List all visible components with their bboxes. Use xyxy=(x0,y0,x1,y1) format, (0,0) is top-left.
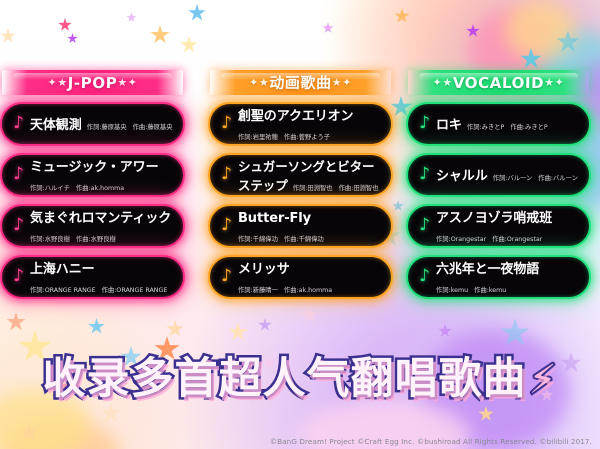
song-credit: 作詞:千綿偉功作曲:千綿偉功 xyxy=(238,236,324,243)
song-composer: 作曲:水野良樹 xyxy=(76,236,116,243)
song-title: Butter-Fly xyxy=(238,211,311,226)
song-texts: 六兆年と一夜物語 作詞:kemu作曲:kemu xyxy=(436,258,589,296)
banner-star-left-icon: ✦★ xyxy=(47,76,68,89)
music-note-icon: ♪ xyxy=(417,115,432,132)
promo-screen: ✦★ J-POP ★✦ ♪ 天体観測 作詞:藤原基央作曲:藤原基央 ♪ ミュージ… xyxy=(0,0,600,449)
song-texts: ロキ 作詞:みきとP作曲:みきとP xyxy=(436,114,589,133)
song-lyricist: 作詞:水野良樹 xyxy=(30,236,70,243)
song-composer: 作曲:ORANGE RANGE xyxy=(102,287,168,294)
banner-star-right-icon: ★✦ xyxy=(117,76,138,89)
column-banner-anime: ✦★ 动画歌曲 ★✦ xyxy=(210,70,391,95)
music-note-icon: ♪ xyxy=(219,268,234,285)
song-composer: 作曲:千綿偉功 xyxy=(284,236,324,243)
song-credit: 作詞:岩里祐穂作曲:菅野よう子 xyxy=(238,134,330,141)
page-headline: 收录多首超人气翻唱歌曲⚡ xyxy=(0,358,600,401)
song-lyricist: 作詞:みきとP xyxy=(467,124,504,131)
song-credit: 作詞:kemu作曲:kemu xyxy=(436,287,506,294)
song-lyricist: 作詞:岩里祐穂 xyxy=(238,134,278,141)
song-texts: メリッサ 作詞:新藤晴一作曲:ak.homma xyxy=(238,258,391,296)
song-item[interactable]: ♪ アスノヨゾラ哨戒班 作詞:Orangestar作曲:Orangestar xyxy=(406,204,591,248)
song-item[interactable]: ♪ メリッサ 作詞:新藤晴一作曲:ak.homma xyxy=(208,255,393,299)
song-composer: 作曲:田淵智也 xyxy=(339,185,379,192)
song-credit: 作詞:藤原基央作曲:藤原基央 xyxy=(87,124,173,131)
song-item[interactable]: ♪ シャルル 作詞:バルーン作曲:バルーン xyxy=(406,153,591,197)
song-texts: アスノヨゾラ哨戒班 作詞:Orangestar作曲:Orangestar xyxy=(436,207,589,245)
song-lyricist: 作詞:千綿偉功 xyxy=(238,236,278,243)
song-item[interactable]: ♪ 創聖のアクエリオン 作詞:岩里祐穂作曲:菅野よう子 xyxy=(208,102,393,146)
song-lyricist: 作詞:田淵智也 xyxy=(293,185,333,192)
music-note-icon: ♪ xyxy=(417,268,432,285)
song-title: 創聖のアクエリオン xyxy=(238,109,353,124)
banner-label: VOCALOID xyxy=(453,74,545,92)
banner-star-right-icon: ★✦ xyxy=(332,76,353,89)
song-composer: 作曲:kemu xyxy=(474,287,506,294)
headline-text: 收录多首超人气翻唱歌曲 xyxy=(42,354,526,404)
column-banner-jpop: ✦★ J-POP ★✦ xyxy=(2,70,183,95)
song-composer: 作曲:菅野よう子 xyxy=(284,134,330,141)
music-note-icon: ♪ xyxy=(219,217,234,234)
song-credit: 作詞:田淵智也作曲:田淵智也 xyxy=(293,185,379,192)
song-item[interactable]: ♪ 六兆年と一夜物語 作詞:kemu作曲:kemu xyxy=(406,255,591,299)
song-texts: シュガーソングとビターステップ 作詞:田淵智也作曲:田淵智也 xyxy=(238,156,391,194)
song-texts: ミュージック・アワー 作詞:ハルイチ作曲:ak.homma xyxy=(30,156,183,194)
song-item[interactable]: ♪ ロキ 作詞:みきとP作曲:みきとP xyxy=(406,102,591,146)
banner-label: 动画歌曲 xyxy=(269,72,332,93)
banner-star-left-icon: ✦★ xyxy=(249,76,270,89)
song-composer: 作曲:Orangestar xyxy=(492,236,542,243)
song-credit: 作詞:みきとP作曲:みきとP xyxy=(467,124,548,131)
song-item[interactable]: ♪ Butter-Fly 作詞:千綿偉功作曲:千綿偉功 xyxy=(208,204,393,248)
song-columns: ✦★ J-POP ★✦ ♪ 天体観測 作詞:藤原基央作曲:藤原基央 ♪ ミュージ… xyxy=(0,70,600,320)
song-item[interactable]: ♪ 天体観測 作詞:藤原基央作曲:藤原基央 xyxy=(0,102,185,146)
music-note-icon: ♪ xyxy=(11,268,26,285)
song-credit: 作詞:水野良樹作曲:水野良樹 xyxy=(30,236,116,243)
song-credit: 作詞:ORANGE RANGE作曲:ORANGE RANGE xyxy=(30,287,167,294)
copyright-notice: ©BanG Dream! Project ©Craft Egg Inc. ©bu… xyxy=(270,437,592,446)
column-jpop: ✦★ J-POP ★✦ ♪ 天体観測 作詞:藤原基央作曲:藤原基央 ♪ ミュージ… xyxy=(0,70,191,306)
lightning-bolt-icon: ⚡ xyxy=(528,357,557,403)
music-note-icon: ♪ xyxy=(219,166,234,183)
banner-label: J-POP xyxy=(68,74,118,92)
banner-star-right-icon: ★✦ xyxy=(544,76,565,89)
song-lyricist: 作詞:藤原基央 xyxy=(87,124,127,131)
music-note-icon: ♪ xyxy=(11,166,26,183)
song-title: メリッサ xyxy=(238,262,290,277)
song-composer: 作曲:みきとP xyxy=(510,124,547,131)
song-item[interactable]: ♪ シュガーソングとビターステップ 作詞:田淵智也作曲:田淵智也 xyxy=(208,153,393,197)
song-title: アスノヨゾラ哨戒班 xyxy=(436,211,552,226)
song-lyricist: 作詞:バルーン xyxy=(493,175,533,182)
song-lyricist: 作詞:Orangestar xyxy=(436,236,486,243)
song-texts: Butter-Fly 作詞:千綿偉功作曲:千綿偉功 xyxy=(238,207,391,245)
song-credit: 作詞:バルーン作曲:バルーン xyxy=(493,175,578,182)
column-vocaloid: ✦★ VOCALOID ★✦ ♪ ロキ 作詞:みきとP作曲:みきとP ♪ シャル… xyxy=(400,70,597,306)
song-title: 上海ハニー xyxy=(30,262,95,277)
banner-star-left-icon: ✦★ xyxy=(432,76,453,89)
song-lyricist: 作詞:kemu xyxy=(436,287,468,294)
song-credit: 作詞:Orangestar作曲:Orangestar xyxy=(436,236,542,243)
song-composer: 作曲:ak.homma xyxy=(284,287,332,294)
song-title: 六兆年と一夜物語 xyxy=(436,262,539,277)
song-texts: 気まぐれロマンティック 作詞:水野良樹作曲:水野良樹 xyxy=(30,207,183,245)
song-texts: 創聖のアクエリオン 作詞:岩里祐穂作曲:菅野よう子 xyxy=(238,105,391,143)
song-texts: 天体観測 作詞:藤原基央作曲:藤原基央 xyxy=(30,114,183,133)
song-title: ミュージック・アワー xyxy=(30,160,158,175)
song-lyricist: 作詞:新藤晴一 xyxy=(238,287,278,294)
background-blob xyxy=(505,0,575,60)
song-item[interactable]: ♪ 気まぐれロマンティック 作詞:水野良樹作曲:水野良樹 xyxy=(0,204,185,248)
song-title: ロキ xyxy=(436,118,462,133)
song-composer: 作曲:ak.homma xyxy=(76,185,124,192)
song-composer: 作曲:バルーン xyxy=(538,175,578,182)
song-lyricist: 作詞:ORANGE RANGE xyxy=(30,287,96,294)
song-item[interactable]: ♪ 上海ハニー 作詞:ORANGE RANGE作曲:ORANGE RANGE xyxy=(0,255,185,299)
column-banner-vocaloid: ✦★ VOCALOID ★✦ xyxy=(408,70,589,95)
music-note-icon: ♪ xyxy=(417,217,432,234)
music-note-icon: ♪ xyxy=(11,217,26,234)
song-item[interactable]: ♪ ミュージック・アワー 作詞:ハルイチ作曲:ak.homma xyxy=(0,153,185,197)
song-title: シャルル xyxy=(436,169,488,184)
song-lyricist: 作詞:ハルイチ xyxy=(30,185,70,192)
song-texts: 上海ハニー 作詞:ORANGE RANGE作曲:ORANGE RANGE xyxy=(30,258,183,296)
song-texts: シャルル 作詞:バルーン作曲:バルーン xyxy=(436,165,589,184)
song-title: 天体観測 xyxy=(30,118,82,133)
song-credit: 作詞:新藤晴一作曲:ak.homma xyxy=(238,287,332,294)
song-credit: 作詞:ハルイチ作曲:ak.homma xyxy=(30,185,124,192)
music-note-icon: ♪ xyxy=(11,115,26,132)
column-anime: ✦★ 动画歌曲 ★✦ ♪ 創聖のアクエリオン 作詞:岩里祐穂作曲:菅野よう子 ♪… xyxy=(202,70,399,306)
music-note-icon: ♪ xyxy=(417,166,432,183)
music-note-icon: ♪ xyxy=(219,115,234,132)
song-title: 気まぐれロマンティック xyxy=(30,211,171,226)
song-composer: 作曲:藤原基央 xyxy=(133,124,173,131)
